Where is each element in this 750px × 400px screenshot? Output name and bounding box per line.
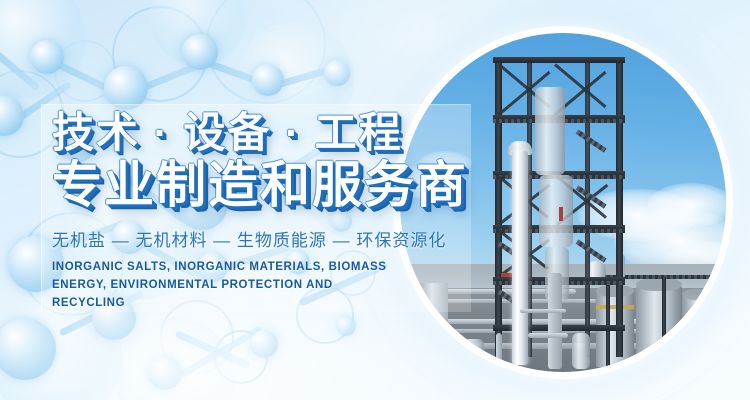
banner-text-block: 技术 · 设备 · 工程 专业制造和服务商 无机盐 — 无机材料 — 生物质能源…: [52, 112, 472, 312]
page-title-line1: 技术 · 设备 · 工程: [52, 112, 472, 154]
distillation-column: [512, 151, 528, 365]
promo-banner: 技术 · 设备 · 工程 专业制造和服务商 无机盐 — 无机材料 — 生物质能源…: [0, 0, 750, 400]
subtitle-chinese: 无机盐 — 无机材料 — 生物质能源 — 环保资源化: [52, 226, 472, 251]
subtitle-english: INORGANIC SALTS, INORGANIC MATERIALS, BI…: [52, 259, 407, 312]
page-title-line2: 专业制造和服务商: [52, 160, 472, 210]
